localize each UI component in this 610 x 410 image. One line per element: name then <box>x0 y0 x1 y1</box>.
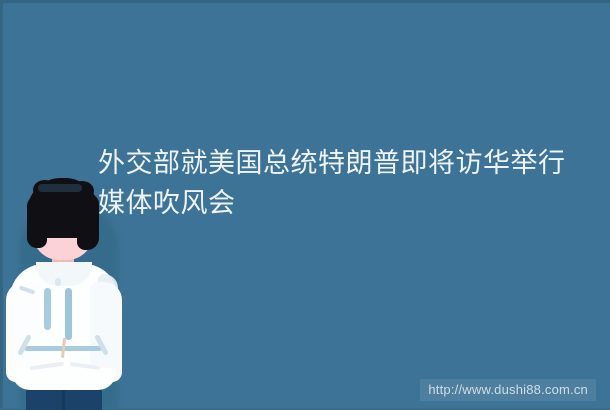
hair-left-lobe <box>27 196 47 248</box>
hoodie-drawstring-right <box>65 288 72 340</box>
news-thumbnail-card: 外交部就美国总统特朗普即将访华举行媒体吹风会 http://www.dushi8… <box>0 0 610 410</box>
hoodie-drawstring-left <box>44 288 51 330</box>
hair-right-lobe <box>77 194 99 250</box>
trousers-center-seam <box>62 388 65 410</box>
card-top-border <box>0 0 610 3</box>
collar-notch <box>55 278 61 286</box>
page-title: 外交部就美国总统特朗普即将访华举行媒体吹风会 <box>98 143 590 223</box>
hair-highlight <box>38 184 82 192</box>
source-watermark: http://www.dushi88.com.cn <box>420 379 596 401</box>
hoodie-hem <box>12 368 116 390</box>
